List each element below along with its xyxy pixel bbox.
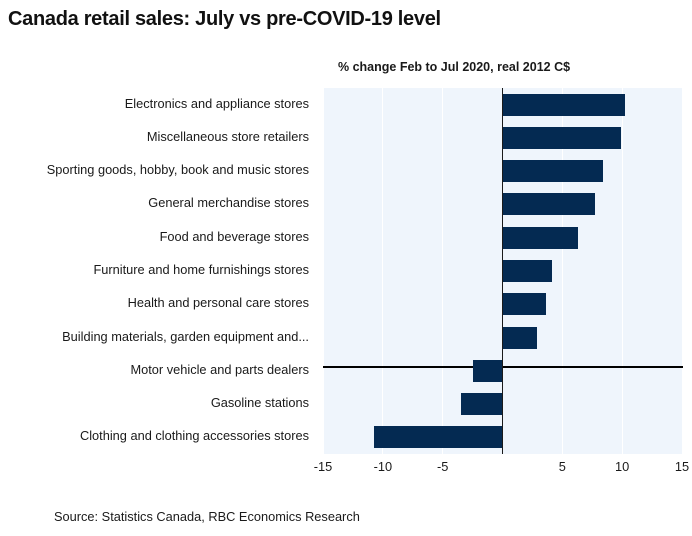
bar[interactable] — [503, 327, 538, 349]
gridline — [682, 88, 683, 454]
bar[interactable] — [503, 293, 546, 315]
gridline — [382, 88, 383, 454]
chart-plot-wrapper: Electronics and appliance storesMiscella… — [0, 88, 692, 455]
bar[interactable] — [473, 360, 503, 382]
category-label: Furniture and home furnishings stores — [93, 264, 309, 277]
bar[interactable] — [503, 227, 578, 249]
bar[interactable] — [461, 393, 503, 415]
category-label: Gasoline stations — [211, 397, 309, 410]
bar[interactable] — [503, 260, 552, 282]
category-label: Miscellaneous store retailers — [147, 131, 309, 144]
zero-line — [502, 88, 504, 454]
category-label: Building materials, garden equipment and… — [62, 331, 309, 344]
page-title: Canada retail sales: July vs pre-COVID-1… — [8, 8, 684, 31]
bar[interactable] — [503, 160, 604, 182]
x-tick-label: -10 — [374, 459, 393, 474]
category-label: General merchandise stores — [148, 197, 309, 210]
category-label: Electronics and appliance stores — [125, 98, 309, 111]
category-label: Sporting goods, hobby, book and music st… — [47, 164, 309, 177]
source-note: Source: Statistics Canada, RBC Economics… — [54, 509, 360, 524]
bar[interactable] — [503, 94, 625, 116]
chart-subtitle: % change Feb to Jul 2020, real 2012 C$ — [338, 60, 570, 74]
bar[interactable] — [503, 127, 621, 149]
category-label: Motor vehicle and parts dealers — [130, 364, 309, 377]
x-tick-label: -15 — [314, 459, 333, 474]
x-tick-label: -5 — [437, 459, 448, 474]
gridline — [442, 88, 443, 454]
category-label: Food and beverage stores — [160, 231, 309, 244]
x-tick-label: 10 — [615, 459, 629, 474]
category-label: Health and personal care stores — [128, 297, 309, 310]
gridline — [622, 88, 623, 454]
x-tick-label: 5 — [559, 459, 566, 474]
x-tick-label: 15 — [675, 459, 689, 474]
category-label: Clothing and clothing accessories stores — [80, 430, 309, 443]
bar[interactable] — [374, 426, 502, 448]
gridline — [323, 88, 324, 454]
bar[interactable] — [503, 193, 595, 215]
